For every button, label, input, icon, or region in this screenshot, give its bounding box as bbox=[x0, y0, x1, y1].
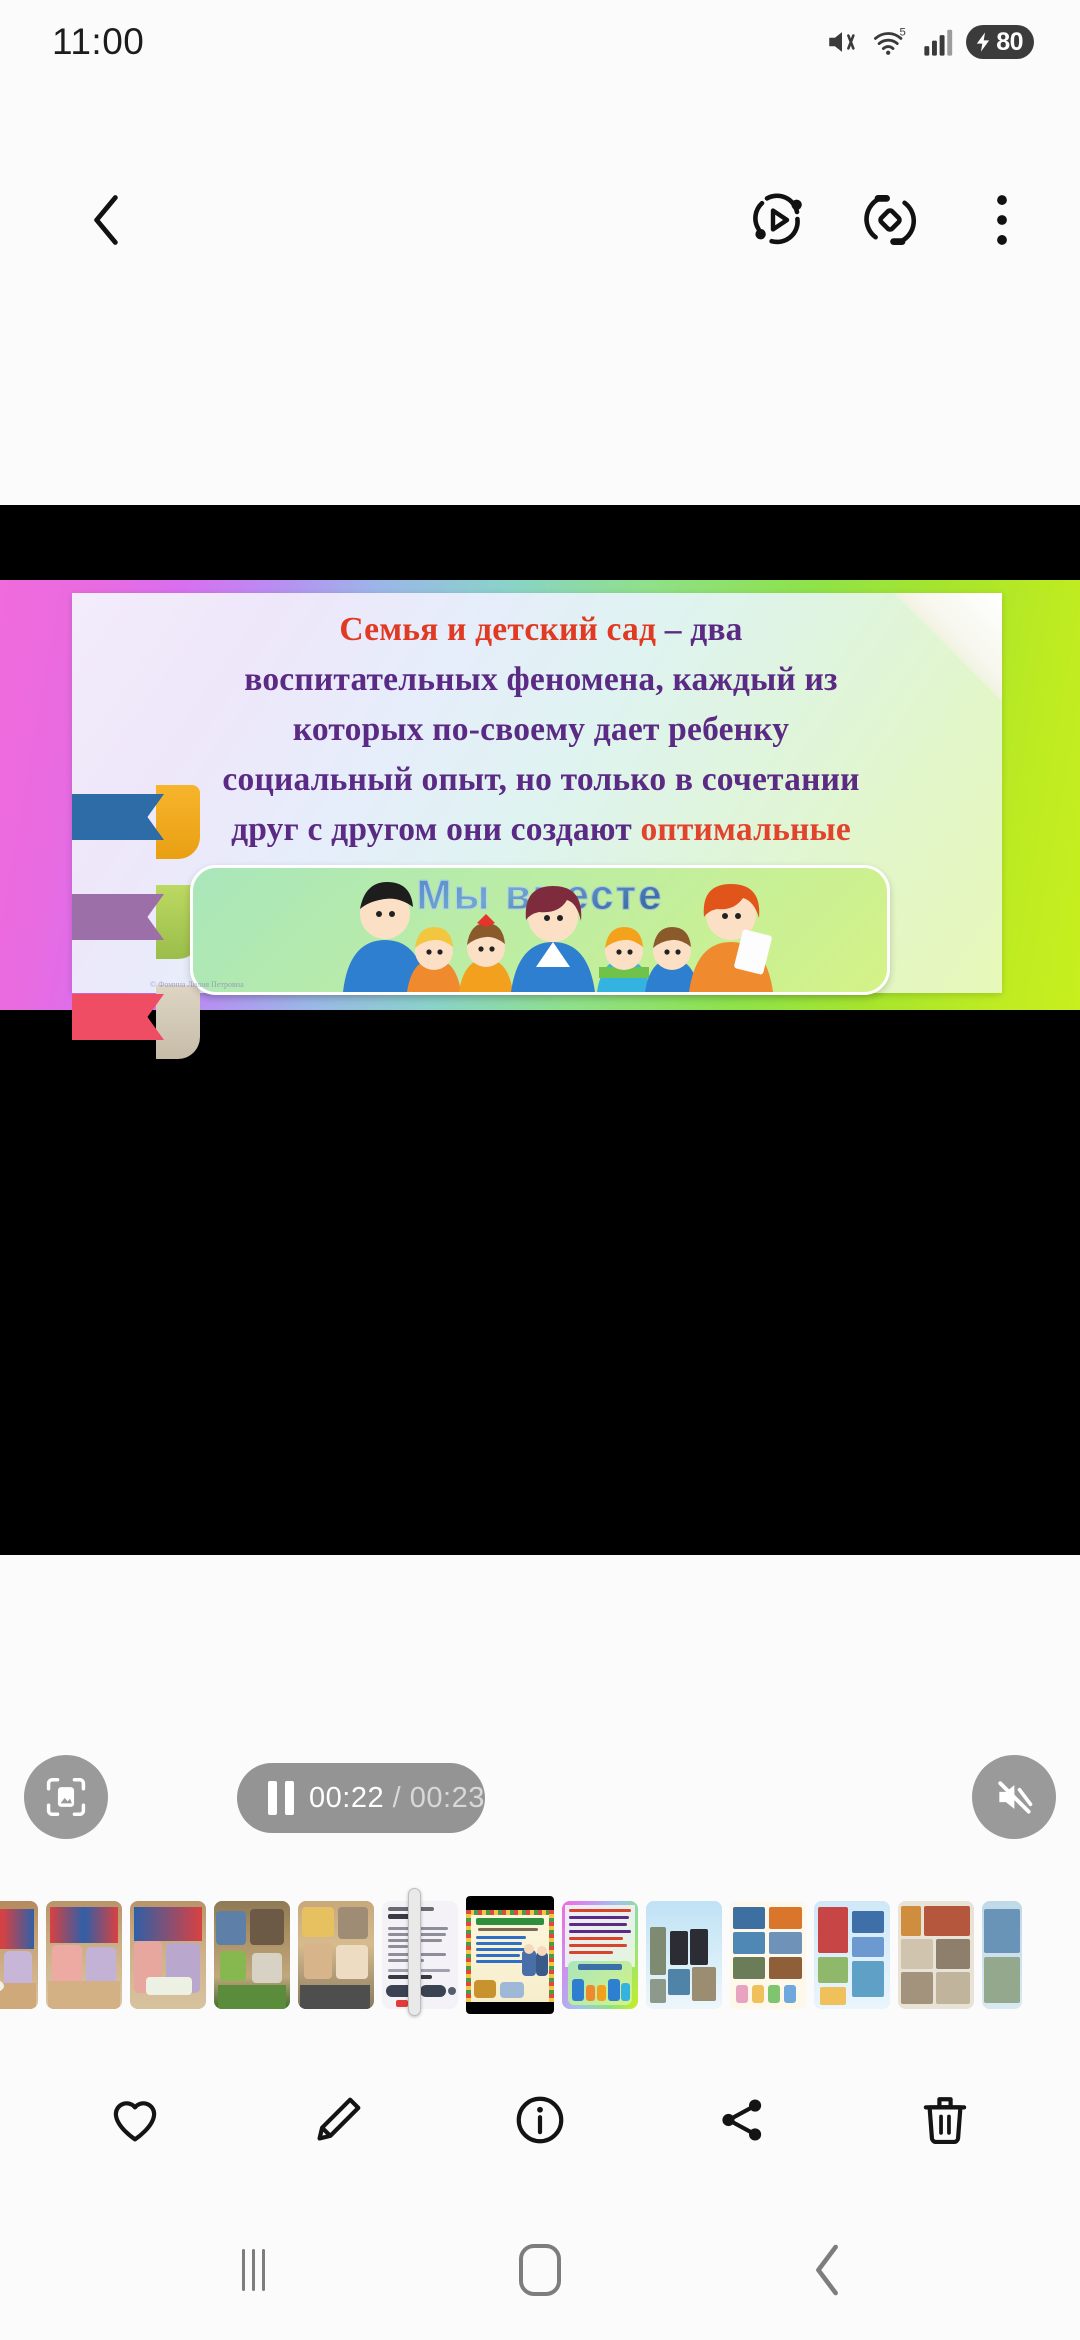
thumb-collage-cream[interactable] bbox=[730, 1901, 806, 2009]
share-icon bbox=[714, 2092, 770, 2148]
toolbar-actions bbox=[744, 186, 1036, 254]
favorite-button[interactable] bbox=[87, 2072, 183, 2168]
back-icon bbox=[804, 2241, 850, 2299]
slide-credit: © Фомина Лилия Петровна bbox=[150, 980, 244, 989]
info-button[interactable] bbox=[492, 2072, 588, 2168]
ribbon-curl bbox=[156, 985, 200, 1059]
thumb-kids-group[interactable] bbox=[214, 1901, 290, 2009]
slide-text-line: Семья и детский сад – два bbox=[108, 605, 974, 655]
bixby-vision-button[interactable] bbox=[856, 186, 924, 254]
more-options-icon bbox=[981, 191, 1023, 249]
slide-text-line: которых по-своему дает ребенку bbox=[108, 705, 974, 755]
playback-time: 00:22 / 00:23 bbox=[309, 1782, 485, 1815]
bixby-vision-icon bbox=[860, 190, 920, 250]
thumb-kids-table-2[interactable] bbox=[46, 1901, 122, 2009]
slide-text-line: социальный опыт, но только в сочетании bbox=[108, 755, 974, 805]
media-viewer[interactable]: Семья и детский сад – двавоспитательных … bbox=[0, 505, 1080, 1555]
slide-text-run: социальный опыт, но только в сочетании bbox=[222, 761, 859, 798]
recents-icon bbox=[242, 2249, 265, 2291]
edit-button[interactable] bbox=[290, 2072, 386, 2168]
capture-frame-icon bbox=[44, 1775, 88, 1819]
thumb-collage-classroom[interactable] bbox=[898, 1901, 974, 2009]
charging-bolt-icon bbox=[973, 31, 993, 53]
playback-controls: 00:22 / 00:23 bbox=[0, 1755, 1080, 1865]
phone-screen: 11:00 5 80 bbox=[0, 0, 1080, 2340]
family-illustration bbox=[193, 865, 890, 992]
edit-icon bbox=[310, 2092, 366, 2148]
status-time: 11:00 bbox=[52, 21, 144, 63]
filmstrip[interactable] bbox=[0, 1893, 1080, 2017]
wifi-icon: 5 bbox=[872, 25, 910, 59]
inner-card: Мы вместе bbox=[190, 865, 890, 995]
navigation-bar bbox=[0, 2200, 1080, 2340]
slide-text-run: оптимальные bbox=[640, 811, 850, 848]
status-bar: 11:00 5 80 bbox=[0, 0, 1080, 84]
ribbon-flag bbox=[72, 994, 164, 1040]
svg-text:5: 5 bbox=[900, 27, 906, 39]
auto-play-button[interactable] bbox=[744, 186, 812, 254]
thumb-traditions-slide[interactable] bbox=[466, 1896, 554, 2014]
chevron-left-icon bbox=[83, 192, 129, 248]
home-button[interactable] bbox=[490, 2220, 590, 2320]
slide-text-run: – два bbox=[656, 611, 743, 648]
time-separator: / bbox=[384, 1782, 410, 1814]
ribbon-decoration-3 bbox=[72, 985, 200, 1059]
status-icons: 5 80 bbox=[825, 25, 1034, 59]
share-button[interactable] bbox=[694, 2072, 790, 2168]
current-time: 00:22 bbox=[309, 1782, 384, 1814]
favorite-icon bbox=[107, 2092, 163, 2148]
recents-button[interactable] bbox=[203, 2220, 303, 2320]
thumb-kids-table-1[interactable] bbox=[0, 1901, 38, 2009]
slide-text-run: воспитательных феномена, каждый из bbox=[244, 661, 837, 698]
pause-icon[interactable] bbox=[268, 1781, 294, 1815]
back-button[interactable] bbox=[72, 186, 140, 254]
filmstrip-scrub-handle[interactable] bbox=[408, 1888, 421, 2016]
more-options-button[interactable] bbox=[968, 186, 1036, 254]
capture-frame-button[interactable] bbox=[24, 1755, 108, 1839]
thumb-collage-blue[interactable] bbox=[814, 1901, 890, 2009]
battery-level: 80 bbox=[996, 28, 1023, 57]
thumb-collage-sky[interactable] bbox=[646, 1901, 722, 2009]
info-icon bbox=[512, 2092, 568, 2148]
auto-play-icon bbox=[748, 190, 808, 250]
signal-icon bbox=[923, 26, 953, 58]
battery-icon: 80 bbox=[966, 25, 1034, 59]
home-icon bbox=[519, 2244, 561, 2296]
thumb-kids-table-3[interactable] bbox=[130, 1901, 206, 2009]
total-time: 00:23 bbox=[410, 1782, 485, 1814]
slide-text-line: воспитательных феномена, каждый из bbox=[108, 655, 974, 705]
top-toolbar bbox=[0, 160, 1080, 280]
mute-button[interactable] bbox=[972, 1755, 1056, 1839]
action-bar bbox=[0, 2060, 1080, 2180]
playback-time-pill[interactable]: 00:22 / 00:23 bbox=[237, 1763, 485, 1833]
delete-icon bbox=[917, 2092, 973, 2148]
slide-text-run: Семья и детский сад bbox=[339, 611, 656, 648]
nav-back-button[interactable] bbox=[777, 2220, 877, 2320]
slide-card: Семья и детский сад – двавоспитательных … bbox=[72, 593, 1002, 993]
thumb-collage-edge[interactable] bbox=[982, 1901, 1022, 2009]
slide-text-line: друг с другом они создают оптимальные bbox=[108, 805, 974, 855]
delete-button[interactable] bbox=[897, 2072, 993, 2168]
slide-text-run: которых по-своему дает ребенку bbox=[293, 711, 789, 748]
sound-off-icon bbox=[992, 1775, 1036, 1819]
thumb-kids-craft[interactable] bbox=[298, 1901, 374, 2009]
mute-icon bbox=[825, 25, 859, 59]
slide-text-run: друг с другом они создают bbox=[231, 811, 640, 848]
thumb-we-together-slide[interactable] bbox=[562, 1901, 638, 2009]
